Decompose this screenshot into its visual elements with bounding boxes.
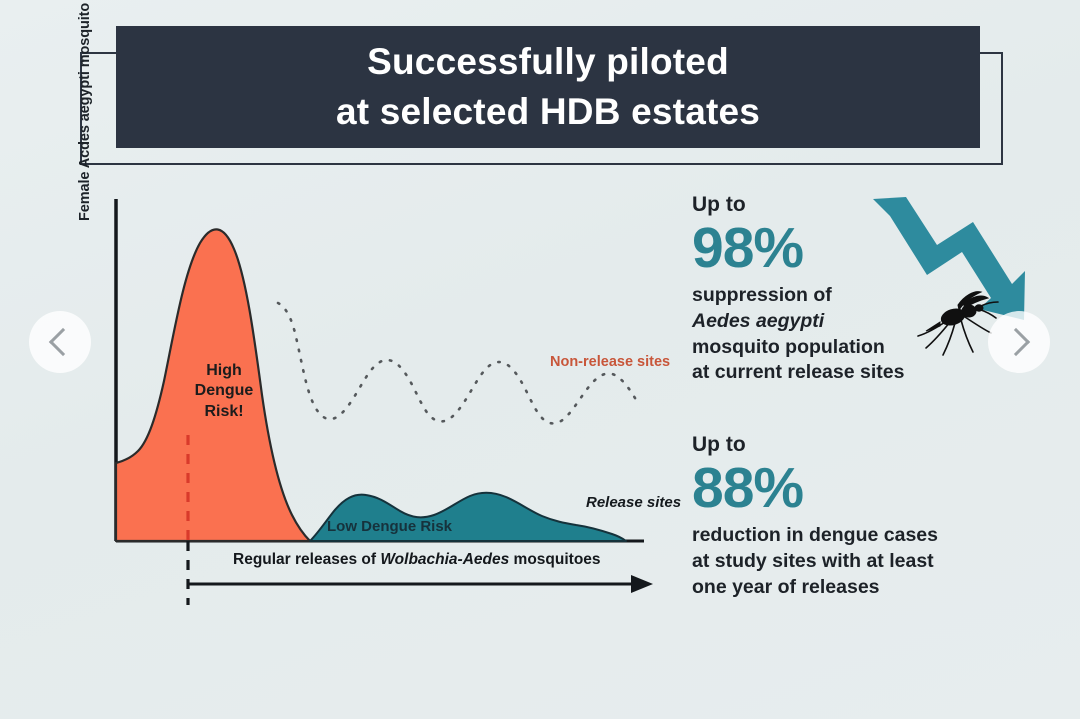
banner-title-line-2: at selected HDB estates — [336, 87, 760, 137]
stat-88-description: reduction in dengue casesat study sites … — [692, 523, 1012, 600]
teal-release-area — [310, 493, 626, 541]
dotted-non-release-line — [278, 303, 638, 423]
chevron-left-icon — [49, 328, 77, 356]
title-banner: Successfully piloted at selected HDB est… — [116, 26, 980, 148]
carousel-prev-button[interactable] — [29, 311, 91, 373]
x-direction-arrow-head — [631, 575, 653, 593]
mosquito-population-chart: Female Acdes aegypti mosquito population… — [78, 185, 678, 605]
stat-98-percent: 98% — [692, 220, 1002, 277]
carousel-next-button[interactable] — [988, 311, 1050, 373]
species-name-aedes-aegypti: Aedes aegypti — [692, 310, 824, 332]
stat-98-upto-label: Up to — [692, 192, 1002, 218]
chevron-right-icon — [1002, 328, 1030, 356]
stat-block-98: Up to 98% suppression ofAedes aegyptimos… — [692, 192, 1002, 386]
orange-high-risk-area — [116, 229, 310, 541]
infographic-slide: Successfully piloted at selected HDB est… — [0, 0, 1080, 719]
banner-title-line-1: Successfully piloted — [367, 37, 729, 87]
stat-block-88: Up to 88% reduction in dengue casesat st… — [692, 432, 1012, 600]
stat-98-description: suppression ofAedes aegyptimosquito popu… — [692, 283, 1002, 386]
stat-88-upto-label: Up to — [692, 432, 1012, 458]
stat-88-percent: 88% — [692, 460, 1012, 517]
chart-y-axis-label: Female Acdes aegypti mosquito population — [77, 0, 93, 221]
chart-plot-svg — [78, 185, 678, 605]
